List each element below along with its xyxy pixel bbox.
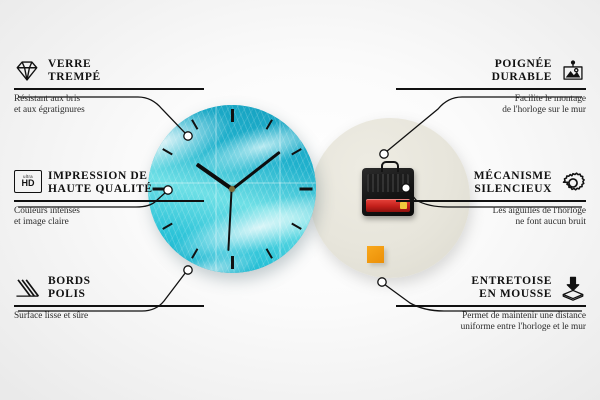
desc-line-1: Facilite le montage	[515, 94, 586, 104]
title-line-2: SILENCIEUX	[474, 183, 552, 195]
feature-header: MÉCANISME SILENCIEUX	[396, 170, 586, 196]
feature-description: Les aiguilles de l'horloge ne font aucun…	[396, 206, 586, 229]
feature-poignee-durable: POIGNÉE DURABLE Facilite le montage de l…	[396, 58, 586, 116]
feature-title: BORDS POLIS	[48, 275, 91, 301]
polished-edges-icon	[14, 275, 40, 301]
desc-line-1: Les aiguilles de l'horloge	[493, 206, 586, 216]
desc-line-2: et aux égratignures	[14, 105, 85, 115]
desc-line-2: et image claire	[14, 217, 69, 227]
title-line-1: IMPRESSION DE	[48, 170, 148, 182]
title-line-2: HAUTE QUALITÉ	[48, 183, 153, 195]
glass-seam-vertical-1	[215, 105, 217, 273]
feature-header: VERRE TREMPÉ	[14, 58, 204, 84]
glass-seam-vertical-2	[279, 105, 281, 273]
feature-verre-trempe: VERRE TREMPÉ Résistant aux bris et aux é…	[14, 58, 204, 116]
picture-hanger-icon	[560, 58, 586, 84]
divider	[396, 200, 586, 202]
feature-description: Facilite le montage de l'horloge sur le …	[396, 94, 586, 117]
divider	[396, 88, 586, 90]
feature-header: ENTRETOISE EN MOUSSE	[396, 275, 586, 301]
hour-marker	[299, 188, 312, 191]
feature-description: Surface lisse et sûre	[14, 311, 204, 322]
feature-header: ultra HD IMPRESSION DE HAUTE QUALITÉ	[14, 170, 204, 196]
feature-title: MÉCANISME SILENCIEUX	[474, 170, 552, 196]
desc-line-2: uniforme entre l'horloge et le mur	[461, 322, 586, 332]
foam-spacer-icon	[560, 275, 586, 301]
title-line-2: DURABLE	[492, 71, 552, 83]
desc-line-1: Résistant aux bris	[14, 94, 80, 104]
feature-bords-polis: BORDS POLIS Surface lisse et sûre	[14, 275, 204, 322]
desc-line-1: Surface lisse et sûre	[14, 311, 88, 321]
foam-spacer	[367, 246, 384, 263]
feature-entretoise-en-mousse: ENTRETOISE EN MOUSSE Permet de maintenir…	[396, 275, 586, 333]
hands-cap	[229, 186, 235, 192]
title-line-1: POIGNÉE	[495, 58, 552, 70]
divider	[14, 88, 204, 90]
divider	[14, 200, 204, 202]
hour-marker	[231, 256, 234, 269]
feature-description: Résistant aux bris et aux égratignures	[14, 94, 204, 117]
title-line-1: MÉCANISME	[474, 170, 552, 182]
hd-label: HD	[22, 179, 35, 188]
infographic-stage: VERRE TREMPÉ Résistant aux bris et aux é…	[0, 0, 600, 400]
title-line-1: ENTRETOISE	[471, 275, 552, 287]
feature-title: VERRE TREMPÉ	[48, 58, 101, 84]
title-line-2: POLIS	[48, 288, 86, 300]
divider	[396, 305, 586, 307]
divider	[14, 305, 204, 307]
title-line-2: EN MOUSSE	[479, 288, 552, 300]
feature-impression-haute-qualite: ultra HD IMPRESSION DE HAUTE QUALITÉ Cou…	[14, 170, 204, 228]
desc-line-2: ne font aucun bruit	[516, 217, 586, 227]
feature-title: IMPRESSION DE HAUTE QUALITÉ	[48, 170, 153, 196]
feature-mecanisme-silencieux: MÉCANISME SILENCIEUX Les aiguilles de l'…	[396, 170, 586, 228]
title-line-1: VERRE	[48, 58, 91, 70]
feature-title: POIGNÉE DURABLE	[492, 58, 552, 84]
desc-line-2: de l'horloge sur le mur	[502, 105, 586, 115]
hour-marker	[231, 109, 234, 122]
title-line-1: BORDS	[48, 275, 91, 287]
feature-description: Couleurs intenses et image claire	[14, 206, 204, 229]
feature-description: Permet de maintenir une distance uniform…	[396, 311, 586, 334]
ultra-hd-icon: ultra HD	[14, 170, 40, 196]
title-line-2: TREMPÉ	[48, 71, 101, 83]
feature-header: BORDS POLIS	[14, 275, 204, 301]
feature-title: ENTRETOISE EN MOUSSE	[471, 275, 552, 301]
desc-line-1: Permet de maintenir une distance	[462, 311, 586, 321]
gear-icon	[560, 170, 586, 196]
feature-header: POIGNÉE DURABLE	[396, 58, 586, 84]
desc-line-1: Couleurs intenses	[14, 206, 80, 216]
diamond-icon	[14, 58, 40, 84]
